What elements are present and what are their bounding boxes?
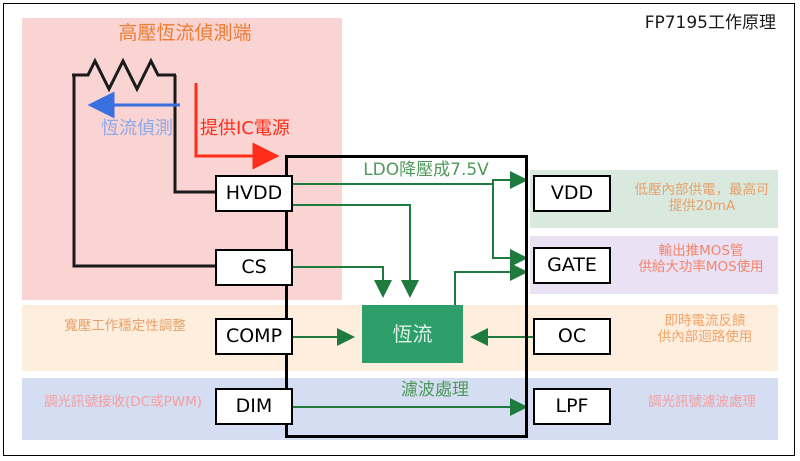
pin-vdd[interactable]: VDD (533, 175, 611, 212)
pin-gate-label: GATE (535, 249, 609, 282)
caption-constant-current: 恆流偵測 (72, 118, 202, 140)
constant-current-label: 恆流 (362, 305, 463, 363)
description-dim: 調光訊號接收(DC或PWM) (18, 394, 228, 410)
caption-supply-ic-power: 提供IC電源 (200, 118, 330, 140)
description-comp: 寬壓工作穩定性調整 (30, 318, 220, 334)
pin-cs[interactable]: CS (215, 249, 293, 286)
pin-hvdd[interactable]: HVDD (215, 175, 293, 212)
description-gate: 輸出推MOS管 供給大功率MOS使用 (606, 243, 796, 276)
description-vdd: 低壓內部供電，最高可 提供20mA (612, 182, 792, 215)
pin-comp[interactable]: COMP (215, 318, 293, 355)
caption-filter-process: 濾波處理 (350, 380, 520, 401)
pin-comp-label: COMP (217, 320, 291, 353)
pin-lpf[interactable]: LPF (533, 388, 611, 425)
pin-vdd-label: VDD (535, 177, 609, 210)
pin-hvdd-label: HVDD (217, 177, 291, 210)
description-lpf: 調光訊號濾波處理 (612, 394, 792, 410)
diagram-page: FP7195工作原理 (0, 0, 800, 461)
description-oc: 即時電流反饋 供內部迴路使用 (620, 313, 790, 346)
pin-gate[interactable]: GATE (533, 247, 611, 284)
pin-lpf-label: LPF (535, 390, 609, 423)
caption-high-voltage-sense: 高壓恆流偵測端 (60, 22, 310, 45)
constant-current-block: 恆流 (362, 305, 463, 363)
pin-oc-label: OC (535, 320, 609, 353)
pin-oc[interactable]: OC (533, 318, 611, 355)
pin-cs-label: CS (217, 251, 291, 284)
caption-ldo-step-down: LDO降壓成7.5V (316, 160, 536, 181)
pin-dim-label: DIM (217, 390, 291, 423)
